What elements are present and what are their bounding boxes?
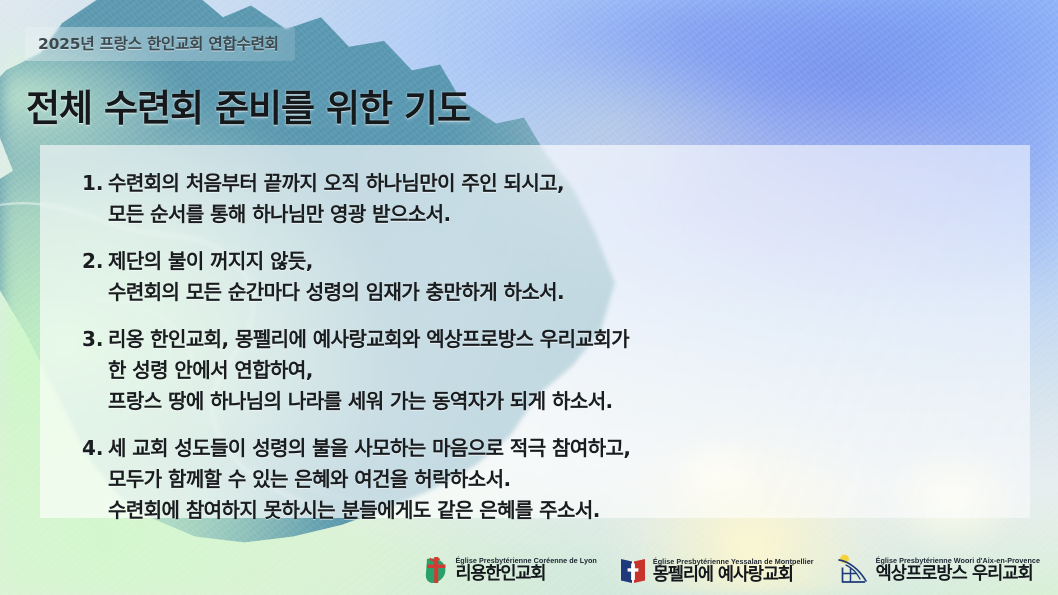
footer-logos: Église Presbytérienne Coréenne de Lyon 리…: [0, 554, 1040, 585]
prayer-item-number: 4.: [82, 433, 108, 464]
prayer-item-number: 3.: [82, 324, 108, 355]
prayer-item-line: 수련회의 처음부터 끝까지 오직 하나님만이 주인 되시고,: [108, 168, 1012, 199]
church-logo-montpellier: Église Presbytérienne Yessalan de Montpe…: [619, 556, 814, 585]
church-logo-aix-korean: 엑상프로방스 우리교회: [876, 566, 1040, 584]
presentation-slide: 2025년 프랑스 한인교회 연합수련회 전체 수련회 준비를 위한 기도 1.…: [0, 0, 1058, 595]
prayer-item-line: 한 성령 안에서 연합하여,: [108, 355, 1012, 386]
church-logo-montpellier-text: Église Presbytérienne Yessalan de Montpe…: [653, 557, 814, 585]
prayer-item-line: 제단의 불이 꺼지지 않듯,: [108, 246, 1012, 277]
page-title: 전체 수련회 준비를 위한 기도: [26, 78, 470, 132]
prayer-item-number: 1.: [82, 168, 108, 199]
header-badge-label: 2025년 프랑스 한인교회 연합수련회: [38, 32, 279, 54]
prayer-item-line: 수련회에 참여하지 못하시는 분들에게도 같은 은혜를 주소서.: [108, 495, 1012, 526]
prayer-item-number: 2.: [82, 246, 108, 277]
prayer-item: 4.세 교회 성도들이 성령의 불을 사모하는 마음으로 적극 참여하고,모두가…: [82, 433, 1012, 526]
church-logo-lyon: Église Presbytérienne Coréenne de Lyon 리…: [423, 555, 596, 585]
prayer-item: 2.제단의 불이 꺼지지 않듯,수련회의 모든 순간마다 성령의 임재가 충만하…: [82, 246, 1012, 308]
church-logo-aix-text: Église Presbytérienne Woori d'Aix-en-Pro…: [876, 556, 1040, 584]
prayer-item-line: 모든 순서를 통해 하나님만 영광 받으소서.: [108, 199, 1012, 230]
church-logo-aix: Église Presbytérienne Woori d'Aix-en-Pro…: [836, 554, 1040, 585]
prayer-item-lines: 세 교회 성도들이 성령의 불을 사모하는 마음으로 적극 참여하고,모두가 함…: [108, 433, 1012, 526]
sun-over-house-line-icon: [836, 554, 870, 585]
prayer-item-line: 프랑스 땅에 하나님의 나라를 세워 가는 동역자가 되게 하소서.: [108, 386, 1012, 417]
church-logo-lyon-korean: 리용한인교회: [455, 566, 596, 584]
prayer-item: 3.리옹 한인교회, 몽펠리에 예사랑교회와 엑상프로방스 우리교회가한 성령 …: [82, 324, 1012, 417]
prayer-item: 1.수련회의 처음부터 끝까지 오직 하나님만이 주인 되시고,모든 순서를 통…: [82, 168, 1012, 230]
prayer-item-line: 리옹 한인교회, 몽펠리에 예사랑교회와 엑상프로방스 우리교회가: [108, 324, 1012, 355]
prayer-item-lines: 리옹 한인교회, 몽펠리에 예사랑교회와 엑상프로방스 우리교회가한 성령 안에…: [108, 324, 1012, 417]
prayer-list: 1.수련회의 처음부터 끝까지 오직 하나님만이 주인 되시고,모든 순서를 통…: [82, 168, 1012, 526]
prayer-item-line: 모두가 함께할 수 있는 은혜와 여건을 허락하소서.: [108, 464, 1012, 495]
church-logo-lyon-text: Église Presbytérienne Coréenne de Lyon 리…: [455, 556, 596, 584]
prayer-item-line: 수련회의 모든 순간마다 성령의 임재가 충만하게 하소서.: [108, 277, 1012, 308]
prayer-item-line: 세 교회 성도들이 성령의 불을 사모하는 마음으로 적극 참여하고,: [108, 433, 1012, 464]
french-flag-book-cross-icon: [619, 556, 647, 585]
church-logo-montpellier-korean: 몽펠리에 예사랑교회: [653, 567, 814, 585]
prayer-item-lines: 제단의 불이 꺼지지 않듯,수련회의 모든 순간마다 성령의 임재가 충만하게 …: [108, 246, 1012, 308]
cross-on-green-shape-icon: [423, 555, 449, 585]
prayer-item-lines: 수련회의 처음부터 끝까지 오직 하나님만이 주인 되시고,모든 순서를 통해 …: [108, 168, 1012, 230]
header-badge: 2025년 프랑스 한인교회 연합수련회: [25, 27, 295, 61]
